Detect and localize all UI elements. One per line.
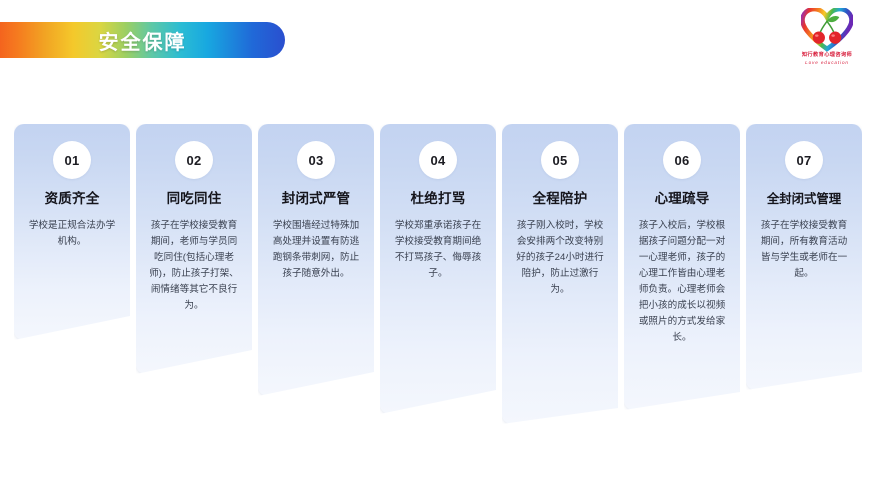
card-number: 01 bbox=[64, 153, 79, 168]
safety-card[interactable]: 07全封闭式管理孩子在学校接受教育期间，所有教育活动皆与学生或老师在一起。 bbox=[746, 124, 862, 390]
card-title: 心理疏导 bbox=[630, 191, 734, 207]
card-number-badge: 03 bbox=[297, 141, 335, 179]
card-number: 02 bbox=[186, 153, 201, 168]
card-body-text: 学校郑重承诺孩子在学校接受教育期间绝不打骂孩子、侮辱孩子。 bbox=[386, 218, 490, 282]
card-body-text: 孩子入校后，学校根据孩子问题分配一对一心理老师，孩子的心理工作皆由心理老师负责。… bbox=[630, 218, 734, 346]
card-number-badge: 06 bbox=[663, 141, 701, 179]
logo-english-text: Love education bbox=[805, 59, 849, 66]
brand-logo: 知行教育心理咨询师 Love education bbox=[786, 8, 868, 70]
card-title: 全程陪护 bbox=[508, 191, 612, 207]
card-number: 05 bbox=[552, 153, 567, 168]
safety-card[interactable]: 06心理疏导孩子入校后，学校根据孩子问题分配一对一心理老师，孩子的心理工作皆由心… bbox=[624, 124, 740, 410]
card-title: 全封闭式管理 bbox=[752, 191, 856, 207]
safety-card[interactable]: 01资质齐全学校是正规合法办学机构。 bbox=[14, 124, 130, 340]
card-number-badge: 04 bbox=[419, 141, 457, 179]
card-number-badge: 05 bbox=[541, 141, 579, 179]
card-body-text: 学校围墙经过特殊加高处理并设置有防逃跑钢条带刺网，防止孩子随意外出。 bbox=[264, 218, 368, 282]
card-number-badge: 07 bbox=[785, 141, 823, 179]
card-number-badge: 01 bbox=[53, 141, 91, 179]
card-number: 04 bbox=[430, 153, 445, 168]
card-number: 07 bbox=[796, 153, 811, 168]
card-title: 杜绝打骂 bbox=[386, 191, 490, 207]
page-title: 安全保障 bbox=[59, 26, 187, 55]
card-title: 封闭式严管 bbox=[264, 191, 368, 207]
card-number-badge: 02 bbox=[175, 141, 213, 179]
card-title: 资质齐全 bbox=[20, 191, 124, 207]
rainbow-heart-cherry-icon bbox=[801, 8, 853, 52]
safety-card[interactable]: 02同吃同住孩子在学校接受教育期间，老师与学员同吃同住(包括心理老师)，防止孩子… bbox=[136, 124, 252, 374]
card-title: 同吃同住 bbox=[142, 191, 246, 207]
safety-card[interactable]: 05全程陪护孩子刚入校时，学校会安排两个改变特别好的孩子24小时进行陪护，防止过… bbox=[502, 124, 618, 424]
card-body-text: 学校是正规合法办学机构。 bbox=[20, 218, 124, 250]
safety-card[interactable]: 04杜绝打骂学校郑重承诺孩子在学校接受教育期间绝不打骂孩子、侮辱孩子。 bbox=[380, 124, 496, 414]
page-header: 安全保障 bbox=[0, 0, 880, 110]
logo-chinese-text: 知行教育心理咨询师 bbox=[802, 52, 852, 59]
page-title-banner: 安全保障 bbox=[0, 22, 285, 58]
card-body-text: 孩子在学校接受教育期间，老师与学员同吃同住(包括心理老师)，防止孩子打架、闹情绪… bbox=[142, 218, 246, 314]
card-body-text: 孩子刚入校时，学校会安排两个改变特别好的孩子24小时进行陪护，防止过激行为。 bbox=[508, 218, 612, 298]
card-number: 06 bbox=[674, 153, 689, 168]
card-number: 03 bbox=[308, 153, 323, 168]
card-body-text: 孩子在学校接受教育期间，所有教育活动皆与学生或老师在一起。 bbox=[752, 218, 856, 282]
safety-guarantee-card-list: 01资质齐全学校是正规合法办学机构。02同吃同住孩子在学校接受教育期间，老师与学… bbox=[0, 124, 880, 444]
safety-card[interactable]: 03封闭式严管学校围墙经过特殊加高处理并设置有防逃跑钢条带刺网，防止孩子随意外出… bbox=[258, 124, 374, 396]
